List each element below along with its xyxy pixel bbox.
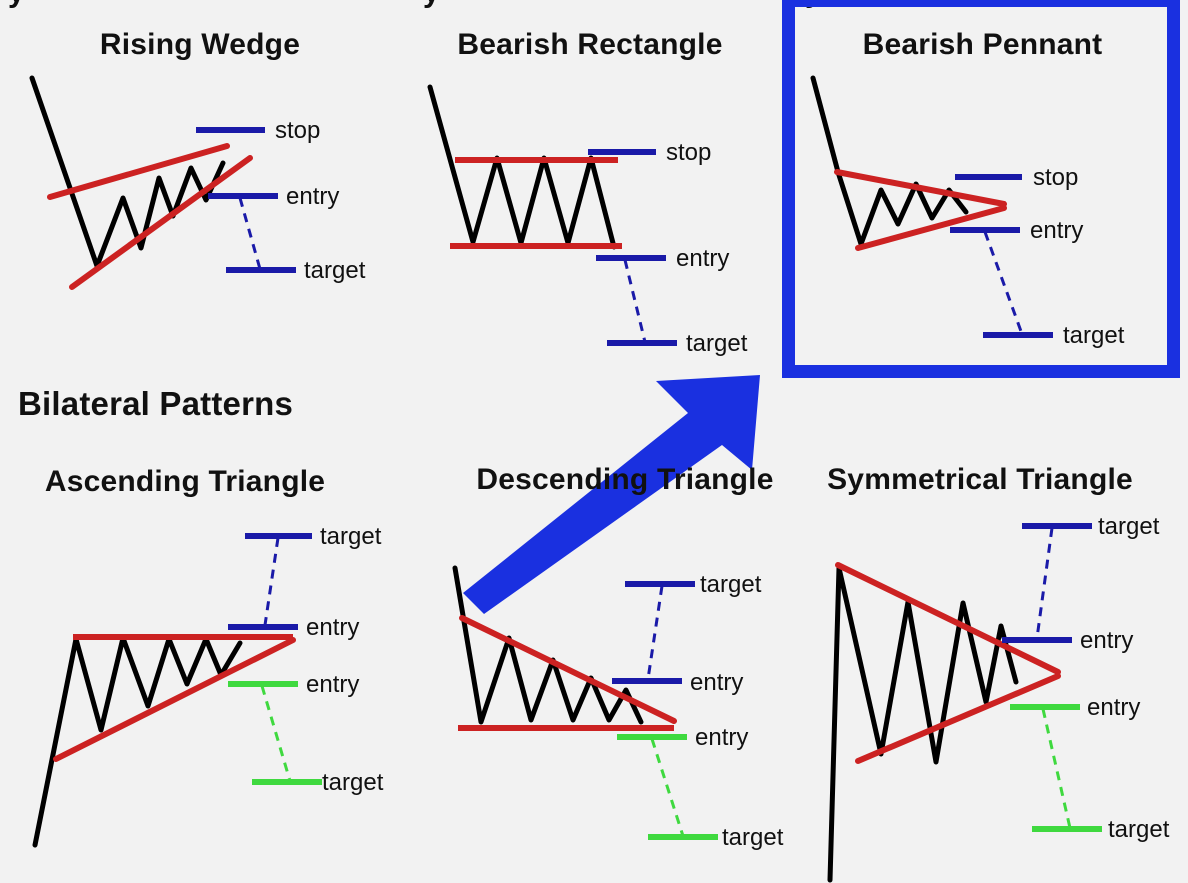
ascending-triangle-drawing [35, 536, 322, 845]
measure-dash-up-symmetrical-triangle [1037, 528, 1052, 638]
label-entry-bearish-pennant: entry [1030, 217, 1083, 245]
measure-dash-up-ascending-triangle [265, 538, 278, 625]
label-target-up-ascending-triangle: target [320, 523, 381, 551]
label-target-down-descending-triangle: target [722, 824, 783, 852]
measure-dash-down-descending-triangle [652, 739, 683, 836]
chart-pattern-cheatsheet: y y y Rising Wedge [0, 0, 1188, 883]
panel-title-bearish-rectangle: Bearish Rectangle [400, 28, 780, 62]
label-target-up-descending-triangle: target [700, 571, 761, 599]
descending-triangle-drawing [455, 568, 718, 837]
section-heading-bilateral: Bilateral Patterns [18, 385, 293, 423]
measure-dash-rising-wedge [240, 198, 260, 269]
price-path-symmetrical-triangle [830, 568, 1016, 880]
label-entry-down-symmetrical-triangle: entry [1087, 694, 1140, 722]
bearish-rectangle-drawing [430, 87, 677, 343]
panel-title-ascending-triangle: Ascending Triangle [20, 465, 350, 499]
measure-dash-bearish-rectangle [625, 260, 645, 342]
panel-title-bearish-pennant: Bearish Pennant [795, 28, 1170, 62]
label-entry-up-descending-triangle: entry [690, 669, 743, 697]
label-stop-bearish-pennant: stop [1033, 164, 1078, 192]
label-target-bearish-rectangle: target [686, 330, 747, 358]
label-entry-down-ascending-triangle: entry [306, 671, 359, 699]
panel-title-symmetrical-triangle: Symmetrical Triangle [800, 463, 1160, 497]
label-target-up-symmetrical-triangle: target [1098, 513, 1159, 541]
label-entry-up-symmetrical-triangle: entry [1080, 627, 1133, 655]
label-entry-up-ascending-triangle: entry [306, 614, 359, 642]
label-target-rising-wedge: target [304, 257, 365, 285]
upper-trendline-symmetrical-triangle [838, 565, 1058, 672]
rising-wedge-drawing [32, 78, 296, 287]
label-target-down-symmetrical-triangle: target [1108, 816, 1169, 844]
measure-dash-up-descending-triangle [648, 586, 662, 679]
label-entry-down-descending-triangle: entry [695, 724, 748, 752]
measure-dash-down-ascending-triangle [262, 686, 290, 781]
label-stop-bearish-rectangle: stop [666, 139, 711, 167]
label-stop-rising-wedge: stop [275, 117, 320, 145]
symmetrical-triangle-drawing [830, 526, 1102, 880]
label-entry-bearish-rectangle: entry [676, 245, 729, 273]
panel-title-descending-triangle: Descending Triangle [450, 463, 800, 497]
label-target-down-ascending-triangle: target [322, 769, 383, 797]
measure-dash-down-symmetrical-triangle [1043, 709, 1070, 828]
label-entry-rising-wedge: entry [286, 183, 339, 211]
label-target-bearish-pennant: target [1063, 322, 1124, 350]
price-path-bearish-rectangle [430, 87, 614, 247]
price-path-ascending-triangle [35, 638, 240, 845]
